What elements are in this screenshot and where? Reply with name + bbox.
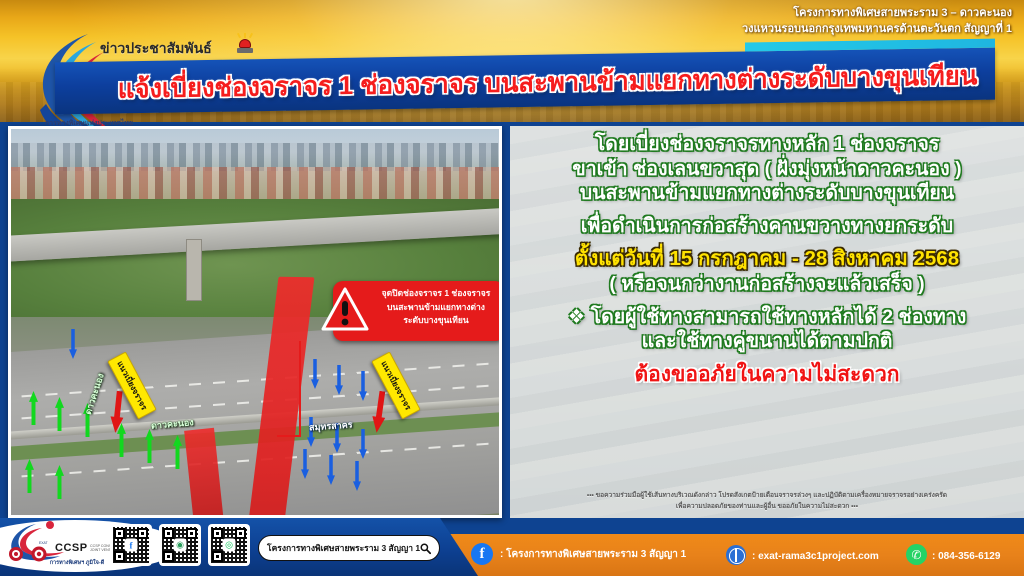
callout-line1: จุดปิดช่องจราจร 1 ช่องจราจร — [371, 287, 501, 301]
siren-light-icon — [237, 35, 253, 54]
detail-line-3: บนสะพานข้ามแยกทางต่างระดับบางขุนเทียน — [580, 181, 954, 206]
ccsp-label: CCSP — [55, 542, 88, 554]
website-qr-badge: ◉ — [174, 539, 187, 552]
detail-panel: โดยเบี่ยงช่องจราจรทางหลัก 1 ช่องจราจร ขา… — [510, 126, 1024, 518]
footnote-line2: เพื่อความปลอดภัยของท่านและผู้อื่น ขออภัย… — [510, 501, 1024, 512]
photo-bridge-pier — [186, 239, 202, 301]
footer-website-text[interactable]: : exat-rama3c1project.com — [752, 551, 879, 562]
line-qr[interactable]: ◎ — [208, 524, 250, 566]
phone-icon: ✆ — [906, 544, 927, 565]
detail-line-dates: ตั้งแต่วันที่ 15 กรกฎาคม - 28 สิงหาคม 25… — [575, 246, 959, 272]
pr-label: ข่าวประชาสัมพันธ์ — [100, 38, 212, 60]
search-icon[interactable] — [420, 541, 431, 556]
facebook-qr-badge: f — [125, 539, 138, 552]
detail-text-block: โดยเบี่ยงช่องจราจรทางหลัก 1 ช่องจราจร ขา… — [510, 132, 1024, 388]
detail-line-1: โดยเบี่ยงช่องจราจรทางหลัก 1 ช่องจราจร — [595, 132, 940, 157]
svg-text:EXAT: EXAT — [39, 541, 48, 545]
detail-line-6: ( หรือจนกว่างานก่อสร้างจะแล้วเสร็จ ) — [609, 272, 924, 297]
website-qr[interactable]: ◉ — [159, 524, 201, 566]
footnote-line1: ••• ขอความร่วมมือผู้ใช้เส้นทางบริเวณดังก… — [510, 490, 1024, 501]
detail-line-2: ขาเข้า ช่องเลนขวาสุด ( ฝั่งมุ่งหน้าดาวคะ… — [572, 157, 961, 182]
detail-footnote: ••• ขอความร่วมมือผู้ใช้เส้นทางบริเวณดังก… — [510, 490, 1024, 512]
line-qr-badge: ◎ — [223, 539, 236, 552]
search-input-value: โครงการทางพิเศษสายพระราม 3 สัญญา 1 — [267, 541, 420, 555]
callout-leader-line — [299, 341, 301, 437]
callout-leader-line-horizontal — [277, 435, 301, 437]
facebook-qr[interactable]: f — [110, 524, 152, 566]
aerial-photo: แนวเบี่ยงจราจร แนวเบี่ยงจราจร ดาวคะนอง ด… — [8, 126, 502, 518]
project-title: โครงการทางพิเศษสายพระราม 3 – ดาวคะนอง วง… — [742, 6, 1012, 38]
detail-line-apology: ต้องขออภัยในความไม่สะดวก — [635, 362, 900, 388]
footer-phone-text: : 084-356-6129 — [932, 551, 1000, 562]
project-title-line2: วงแหวนรอบนอกกรุงเทพมหานครด้านตะวันตก สัญ… — [742, 22, 1012, 38]
warning-triangle-icon — [321, 287, 369, 331]
footer-facebook-text: : โครงการทางพิเศษสายพระราม 3 สัญญา 1 — [500, 547, 686, 562]
detail-line-4: เพื่อดำเนินการก่อสร้างคานขวางทางยกระดับ — [581, 214, 953, 239]
globe-icon — [726, 545, 746, 565]
search-input[interactable]: โครงการทางพิเศษสายพระราม 3 สัญญา 1 — [258, 535, 440, 561]
photo-buildings — [11, 167, 499, 201]
callout-line3: ระดับบางขุนเทียน — [371, 314, 501, 328]
announcement-poster: โครงการทางพิเศษสายพระราม 3 – ดาวคะนอง วง… — [0, 0, 1024, 576]
detail-line-7: ❖ โดยผู้ใช้ทางสามารถใช้ทางหลักได้ 2 ช่อง… — [568, 305, 967, 330]
facebook-icon[interactable]: f — [471, 543, 493, 565]
project-title-line1: โครงการทางพิเศษสายพระราม 3 – ดาวคะนอง — [742, 6, 1012, 22]
detail-line-8: และใช้ทางคู่ขนานได้ตามปกติ — [642, 329, 893, 354]
callout-line2: บนสะพานข้ามแยกทางต่าง — [371, 301, 501, 315]
photo-background: แนวเบี่ยงจราจร แนวเบี่ยงจราจร ดาวคะนอง ด… — [11, 129, 499, 515]
